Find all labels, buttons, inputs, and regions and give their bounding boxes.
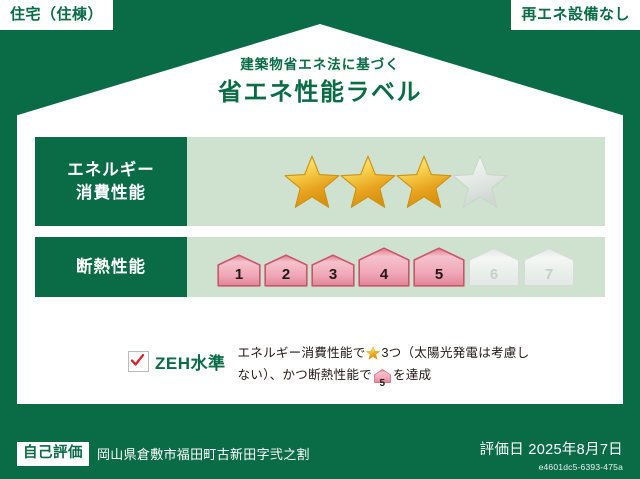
zeh-checkbox-group: ZEH水準 — [128, 349, 226, 374]
zeh-description: エネルギー消費性能で 3つ（太陽光発電は考慮しない）、かつ断熱性能で 5 を達成 — [238, 342, 538, 390]
inline-badge-number: 5 — [374, 379, 391, 389]
energy-performance-label: エネルギー 消費性能 — [35, 137, 187, 226]
zeh-label: ZEH水準 — [155, 349, 226, 374]
star-filled-icon — [284, 155, 340, 209]
check-icon — [130, 353, 145, 368]
zeh-desc-part2: 3つ（太陽光発電 — [381, 346, 478, 360]
insulation-performance-value: 1234567 — [187, 237, 605, 297]
zeh-desc-part4: を達成 — [393, 368, 431, 382]
insulation-grade-number: 2 — [264, 267, 308, 282]
zeh-checkbox — [128, 351, 149, 372]
renewable-energy-tag: 再エネ設備なし — [511, 0, 640, 30]
energy-label-line2: 消費性能 — [76, 182, 146, 204]
footer-left-group: 自己評価 岡山県倉敷市福田町古新田字弐之割 — [17, 442, 310, 466]
energy-label-line1: エネルギー — [67, 159, 155, 181]
insulation-grade-badge: 5 — [413, 247, 465, 287]
insulation-grade-number: 5 — [413, 267, 465, 282]
star-rating — [284, 155, 508, 209]
property-address: 岡山県倉敷市福田町古新田字弐之割 — [97, 444, 310, 463]
star-filled-icon — [396, 155, 452, 209]
self-evaluation-badge: 自己評価 — [17, 442, 89, 466]
insulation-performance-label: 断熱性能 — [35, 237, 187, 297]
insulation-performance-row: 断熱性能 1234567 — [35, 237, 605, 297]
insulation-label-line1: 断熱性能 — [76, 256, 146, 278]
insulation-grade-badge: 1 — [217, 254, 261, 287]
star-filled-icon — [340, 155, 396, 209]
insulation-grade-number: 3 — [311, 267, 355, 282]
insulation-grade-badge: 7 — [523, 247, 575, 287]
energy-performance-value — [187, 137, 605, 226]
building-type-tag: 住宅（住棟） — [0, 0, 113, 30]
insulation-grade-number: 4 — [358, 267, 410, 282]
star-empty-icon — [452, 155, 508, 209]
evaluation-date: 評価日 2025年8月7日 — [480, 438, 623, 459]
title-subtitle: 建築物省エネ法に基づく — [0, 57, 640, 73]
insulation-grade-badge: 4 — [358, 247, 410, 287]
label-title: 建築物省エネ法に基づく 省エネ性能ラベル — [0, 57, 640, 107]
energy-performance-label: 住宅（住棟） 再エネ設備なし 建築物省エネ法に基づく 省エネ性能ラベル エネルギ… — [0, 0, 640, 479]
inline-insulation-badge: 5 — [374, 368, 391, 390]
footer-right-group: 評価日 2025年8月7日 e4601dc5-6393-475a — [480, 438, 623, 472]
insulation-grade-badge: 2 — [264, 254, 308, 287]
insulation-grade-badge: 6 — [468, 247, 520, 287]
insulation-grade-number: 6 — [468, 267, 520, 282]
insulation-grade-scale: 1234567 — [217, 247, 575, 287]
label-footer: 自己評価 岡山県倉敷市福田町古新田字弐之割 評価日 2025年8月7日 e460… — [0, 408, 640, 479]
inline-star-icon — [366, 346, 380, 360]
performance-rows: エネルギー 消費性能 断熱性能 1234567 — [35, 137, 605, 308]
insulation-grade-badge: 3 — [311, 254, 355, 287]
zeh-standard-block: ZEH水準 エネルギー消費性能で 3つ（太陽光発電は考慮しない）、かつ断熱性能で… — [128, 342, 538, 390]
insulation-grade-number: 7 — [523, 267, 575, 282]
zeh-desc-part1: エネルギー消費性能で — [238, 346, 366, 360]
title-main: 省エネ性能ラベル — [0, 79, 640, 107]
insulation-grade-number: 1 — [217, 267, 261, 282]
energy-performance-row: エネルギー 消費性能 — [35, 137, 605, 226]
evaluation-id: e4601dc5-6393-475a — [480, 462, 623, 472]
